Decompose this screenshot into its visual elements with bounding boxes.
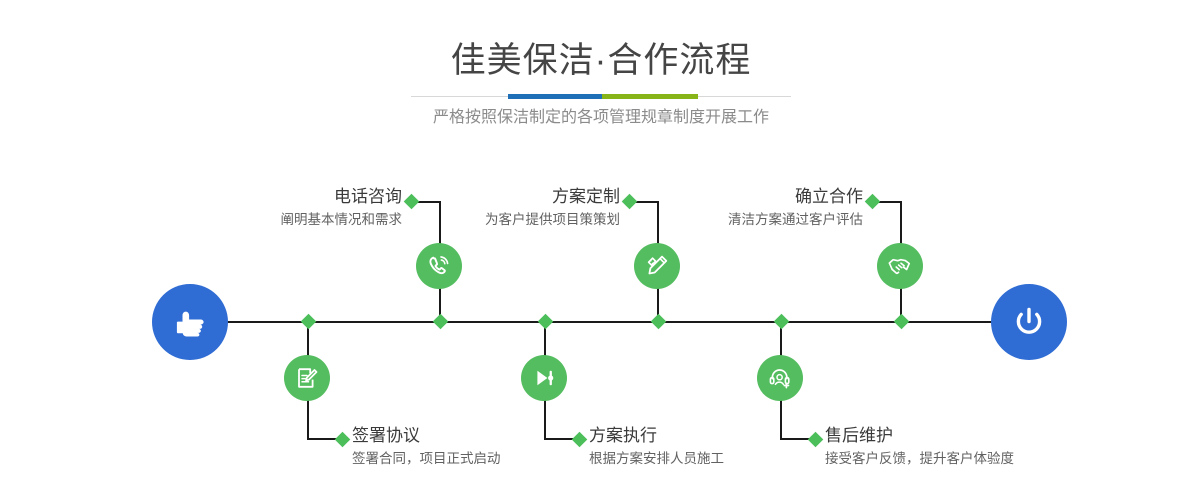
title-divider — [411, 94, 791, 99]
axis-marker-diamond — [651, 314, 667, 330]
end-endpoint[interactable] — [991, 284, 1067, 360]
label-marker-diamond — [865, 194, 881, 210]
step-icon-plan-customization[interactable] — [634, 243, 680, 289]
step-title: 售后维护 — [825, 425, 1202, 447]
step-title: 确立合作 — [460, 186, 863, 208]
step-desc: 接受客户反馈，提升客户体验度 — [825, 448, 1202, 470]
timeline-axis — [155, 321, 1045, 323]
document-edit-icon — [293, 364, 321, 392]
axis-marker-diamond — [538, 314, 554, 330]
cooperation-process-infographic: 佳美保洁·合作流程 严格按照保洁制定的各项管理规章制度开展工作 — [0, 0, 1202, 502]
step-desc: 清洁方案通过客户评估 — [460, 209, 863, 231]
start-endpoint[interactable] — [152, 284, 228, 360]
pointing-hand-icon — [169, 301, 211, 343]
step-icon-sign-agreement[interactable] — [284, 355, 330, 401]
label-marker-diamond — [335, 432, 351, 448]
step-label-establish-cooperation: 确立合作 清洁方案通过客户评估 — [460, 186, 863, 231]
step-label-after-sales-maintenance: 售后维护 接受客户反馈，提升客户体验度 — [825, 425, 1202, 470]
axis-marker-diamond — [433, 314, 449, 330]
handshake-icon — [886, 252, 915, 281]
step-icon-plan-execution[interactable] — [521, 355, 567, 401]
pencil-ruler-icon — [643, 252, 671, 280]
step-icon-phone-consultation[interactable] — [416, 243, 462, 289]
page-title: 佳美保洁·合作流程 — [0, 39, 1202, 83]
axis-marker-diamond — [894, 314, 910, 330]
axis-marker-diamond — [301, 314, 317, 330]
phone-call-icon — [425, 252, 453, 280]
customer-service-icon — [766, 364, 794, 392]
step-icon-establish-cooperation[interactable] — [877, 243, 923, 289]
divider-segment-blue — [508, 94, 602, 99]
divider-segment-green — [602, 94, 698, 99]
axis-marker-diamond — [774, 314, 790, 330]
power-icon — [1008, 301, 1050, 343]
page-subtitle: 严格按照保洁制定的各项管理规章制度开展工作 — [0, 106, 1202, 130]
step-icon-after-sales-maintenance[interactable] — [757, 355, 803, 401]
play-execute-icon — [530, 364, 558, 392]
